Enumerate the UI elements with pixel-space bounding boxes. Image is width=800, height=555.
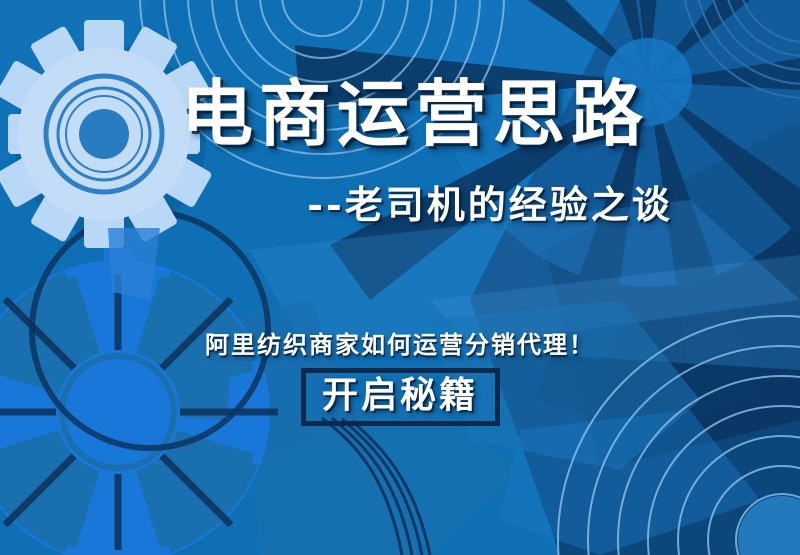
open-secrets-button[interactable]: 开启秘籍 — [301, 368, 500, 426]
page-subtitle: --老司机的经验之谈 — [0, 186, 800, 224]
banner-content: 电商运营思路 --老司机的经验之谈 阿里纺织商家如何运营分销代理！ 开启秘籍 — [0, 0, 800, 555]
page-title: 电商运营思路 — [0, 78, 800, 150]
tagline-text: 阿里纺织商家如何运营分销代理！ — [0, 333, 800, 357]
cta-container: 开启秘籍 — [0, 368, 800, 426]
promo-banner: 电商运营思路 --老司机的经验之谈 阿里纺织商家如何运营分销代理！ 开启秘籍 — [0, 0, 800, 555]
open-secrets-button-label: 开启秘籍 — [322, 377, 478, 413]
